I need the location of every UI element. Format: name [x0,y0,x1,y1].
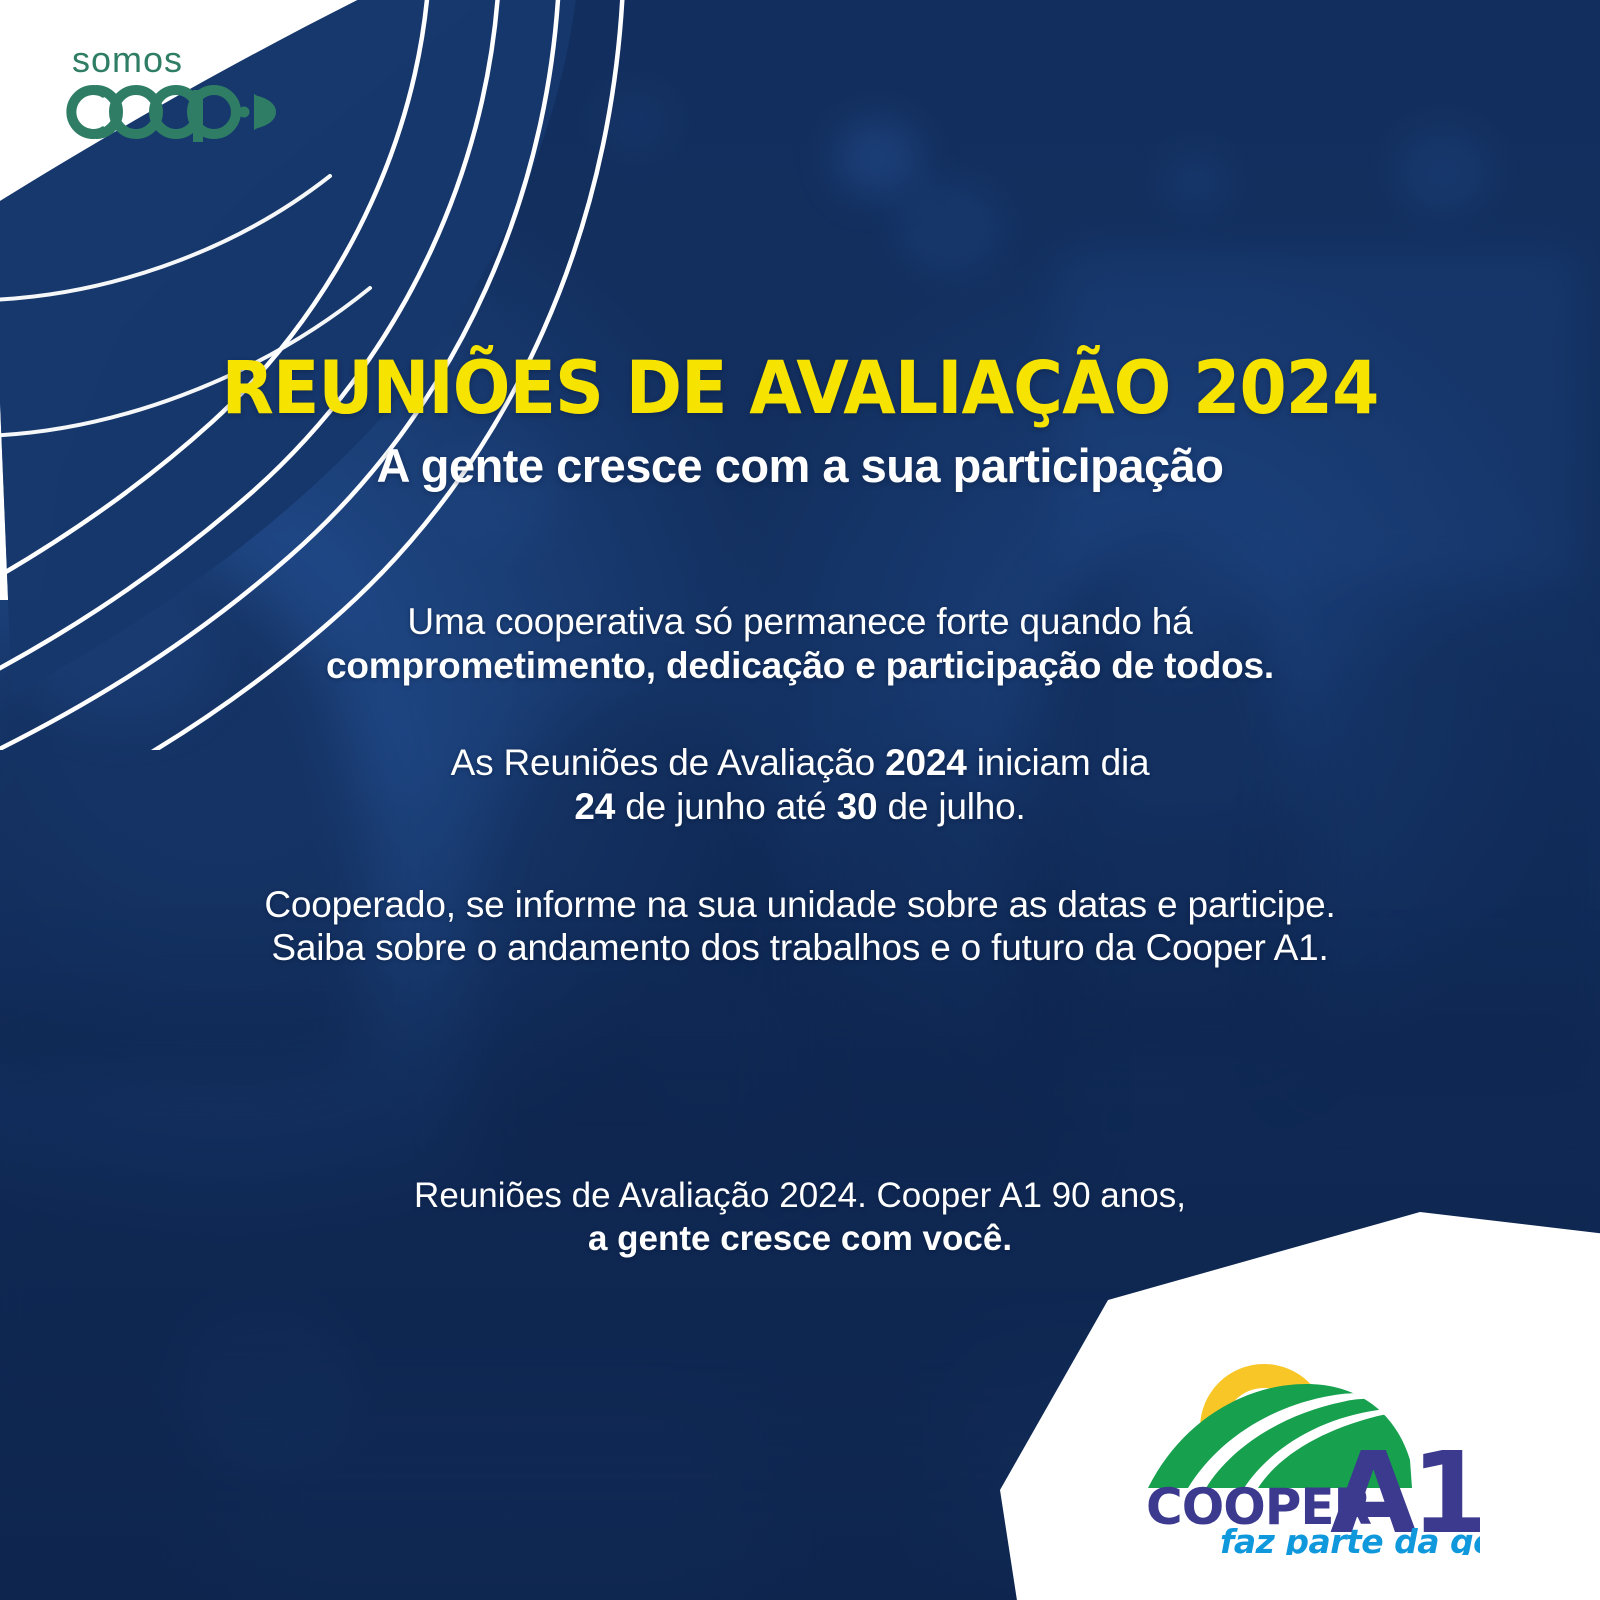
paragraph-dates-line2-d: de julho. [877,786,1025,827]
paragraph-commitment-line2: comprometimento, dedicação e participaçã… [326,645,1274,686]
paragraph-call-to-action: Cooperado, se informe na sua unidade sob… [120,883,1480,970]
cooper-a1-tagline: faz parte da gente [1220,1522,1480,1555]
paragraph-dates: As Reuniões de Avaliação 2024 iniciam di… [120,741,1480,828]
somos-coop-logo: somos [62,34,282,144]
paragraph-dates-end-day: 30 [837,786,878,827]
paragraph-commitment-line1: Uma cooperativa só permanece forte quand… [407,601,1192,642]
paragraph-commitment: Uma cooperativa só permanece forte quand… [120,600,1480,687]
closing-line2: a gente cresce com você. [140,1218,1460,1261]
paragraph-cta-line1: Cooperado, se informe na sua unidade sob… [264,884,1335,925]
paragraph-dates-line1-a: As Reuniões de Avaliação [451,742,886,783]
page-subtitle: A gente cresce com a sua participação [60,441,1540,491]
paragraph-cta-line2: Saiba sobre o andamento dos trabalhos e … [271,927,1328,968]
page-title: REUNIÕES DE AVALIAÇÃO 2024 [112,352,1488,425]
somos-coop-arrow-icon [239,94,277,130]
cooper-a1-logo: COOPER A1 faz parte da gente [1128,1310,1480,1555]
closing-line1: Reuniões de Avaliação 2024. Cooper A1 90… [140,1175,1460,1218]
poster-canvas: somos [0,0,1600,1600]
headline-block: REUNIÕES DE AVALIAÇÃO 2024 A gente cresc… [0,352,1600,491]
paragraph-dates-start-day: 24 [574,786,615,827]
paragraph-dates-year: 2024 [885,742,967,783]
somos-coop-wordmark-top: somos [72,39,183,80]
body-copy-block: Uma cooperativa só permanece forte quand… [0,600,1600,970]
paragraph-dates-line2-b: de junho até [615,786,836,827]
paragraph-dates-line1-c: iniciam dia [967,742,1150,783]
